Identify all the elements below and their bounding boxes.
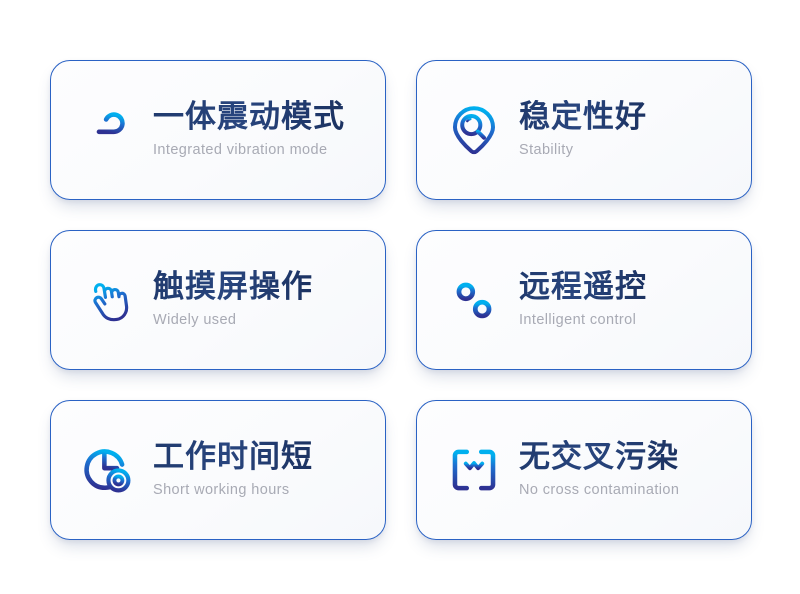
card-title: 工作时间短 (153, 440, 313, 475)
card-subtitle: Widely used (153, 312, 313, 328)
card-subtitle: No cross contamination (519, 482, 679, 498)
feature-card-short-working-hours[interactable]: 工作时间短 Short working hours (50, 400, 386, 540)
card-text-block: 工作时间短 Short working hours (153, 440, 313, 500)
card-subtitle: Integrated vibration mode (153, 142, 345, 158)
bracket-wave-icon (443, 439, 505, 501)
card-text-block: 触摸屏操作 Widely used (153, 270, 313, 330)
card-title: 稳定性好 (519, 100, 647, 135)
feature-card-integrated-vibration-mode[interactable]: 一体震动模式 Integrated vibration mode (50, 60, 386, 200)
card-subtitle: Short working hours (153, 482, 313, 498)
feature-card-no-cross-contamination[interactable]: 无交叉污染 No cross contamination (416, 400, 752, 540)
clock-target-icon (77, 439, 139, 501)
sliders-icon (443, 269, 505, 331)
card-text-block: 无交叉污染 No cross contamination (519, 440, 679, 500)
card-text-block: 远程遥控 Intelligent control (519, 270, 647, 330)
cloud-wind-icon (77, 99, 139, 161)
card-title: 触摸屏操作 (153, 270, 313, 305)
map-pin-search-icon (443, 99, 505, 161)
feature-card-remote-control[interactable]: 远程遥控 Intelligent control (416, 230, 752, 370)
touch-hand-icon (77, 269, 139, 331)
card-text-block: 稳定性好 Stability (519, 100, 647, 160)
feature-card-grid: 一体震动模式 Integrated vibration mode (50, 60, 752, 540)
card-subtitle: Stability (519, 142, 647, 158)
feature-card-touchscreen-operation[interactable]: 触摸屏操作 Widely used (50, 230, 386, 370)
card-title: 一体震动模式 (153, 100, 345, 135)
card-subtitle: Intelligent control (519, 312, 647, 328)
feature-card-stability[interactable]: 稳定性好 Stability (416, 60, 752, 200)
card-text-block: 一体震动模式 Integrated vibration mode (153, 100, 345, 160)
card-title: 远程遥控 (519, 270, 647, 305)
card-title: 无交叉污染 (519, 440, 679, 475)
